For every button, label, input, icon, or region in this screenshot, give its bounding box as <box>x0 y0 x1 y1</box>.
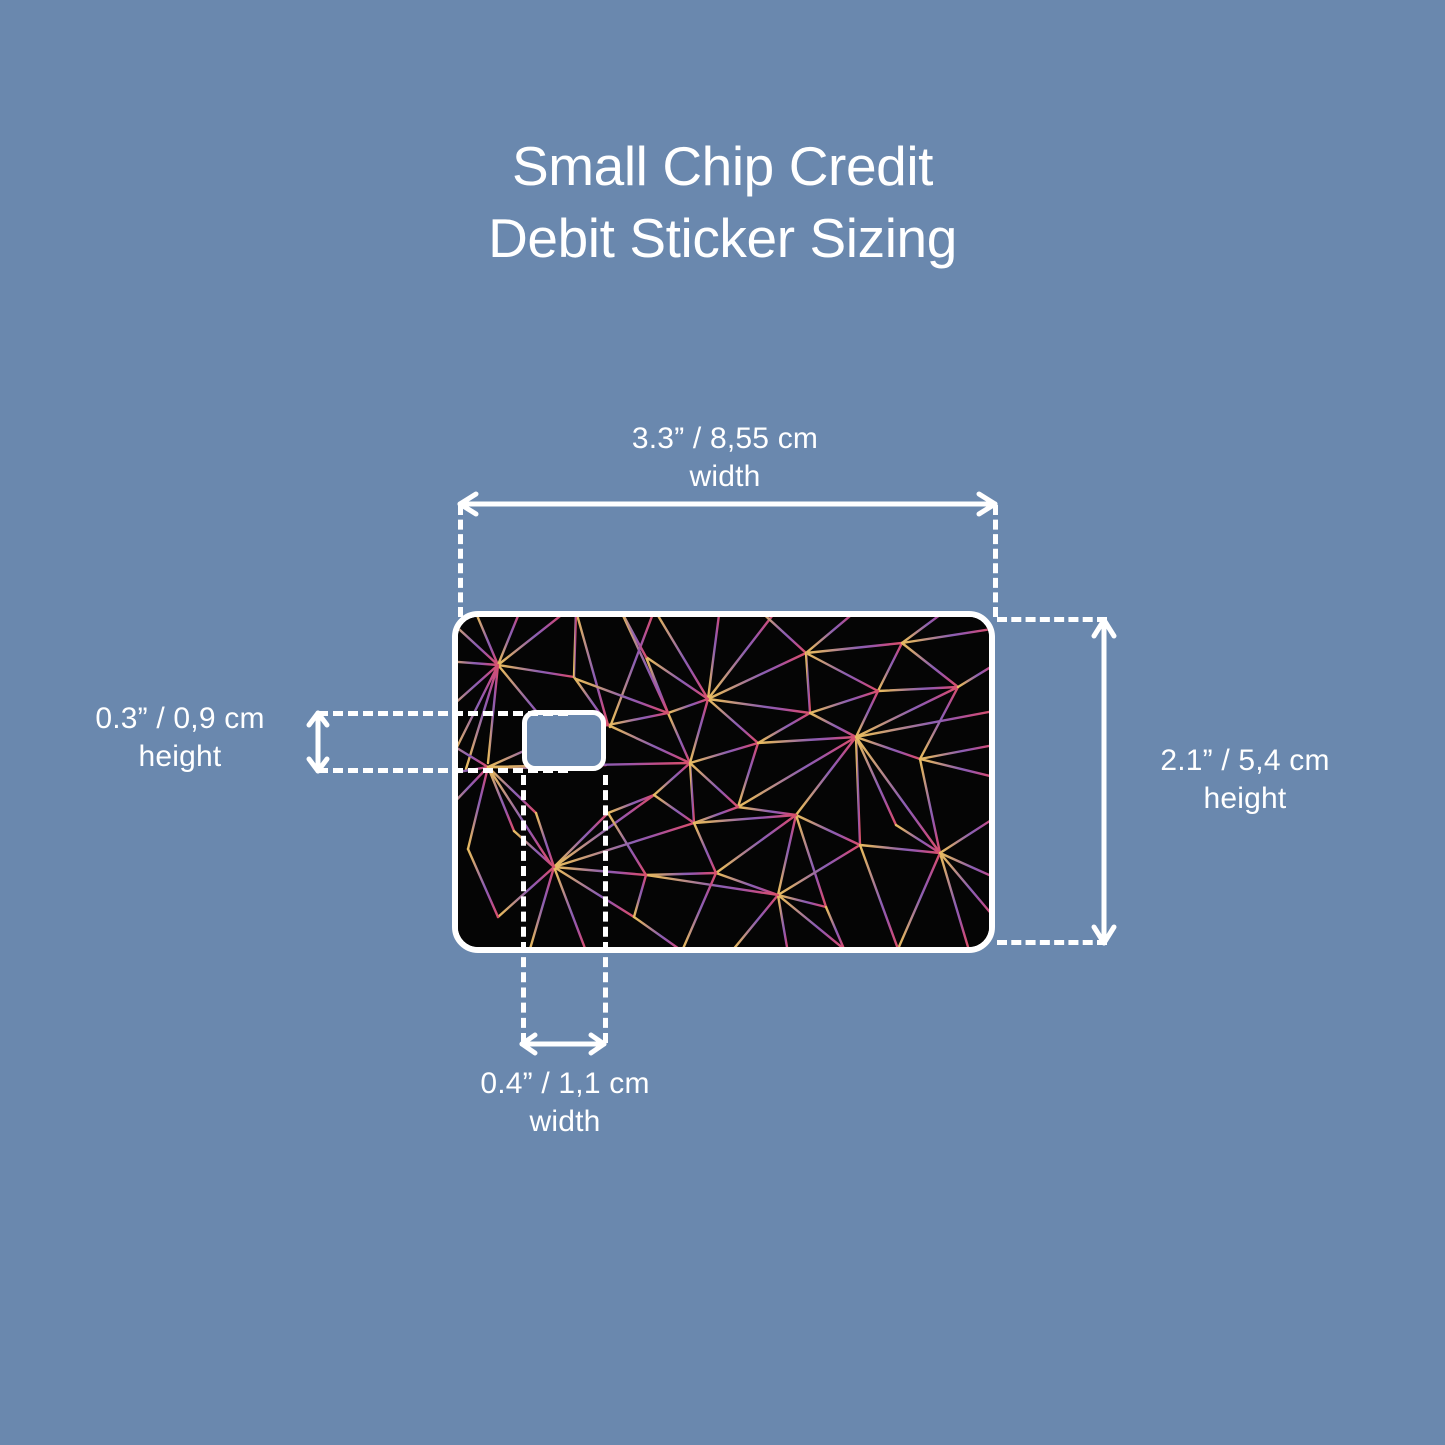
chip-height-arrow <box>306 705 330 779</box>
chip-width-measure: 0.4” / 1,1 cm <box>480 1067 649 1100</box>
guide-line-card-height-bottom <box>997 940 1107 945</box>
sticker-sizing-diagram: Small Chip Credit Debit Sticker Sizing 3… <box>0 0 1445 1445</box>
card-width-measure: 3.3” / 8,55 cm <box>632 422 818 455</box>
card-width-label: 3.3” / 8,55 cm width <box>530 420 920 496</box>
guide-line-chip-width-left <box>521 775 526 1043</box>
credit-card-sticker <box>452 611 995 953</box>
page-title-line-2: Debit Sticker Sizing <box>0 202 1445 274</box>
chip-cutout <box>522 710 606 771</box>
card-height-label: 2.1” / 5,4 cm height <box>1115 742 1375 818</box>
guide-line-chip-height-top <box>318 711 568 716</box>
card-artwork <box>458 617 989 947</box>
page-title-line-1: Small Chip Credit <box>0 130 1445 202</box>
chip-height-unit: height <box>55 738 305 776</box>
card-height-measure: 2.1” / 5,4 cm <box>1160 744 1329 777</box>
guide-line-card-width-right <box>993 505 998 617</box>
chip-height-measure: 0.3” / 0,9 cm <box>95 702 264 735</box>
card-height-unit: height <box>1115 780 1375 818</box>
chip-width-arrow <box>514 1032 612 1056</box>
page-title: Small Chip Credit Debit Sticker Sizing <box>0 130 1445 274</box>
guide-line-chip-height-bottom <box>318 768 568 773</box>
card-width-arrow <box>452 492 1003 516</box>
card-width-unit: width <box>530 458 920 496</box>
guide-line-card-width-left <box>458 505 463 617</box>
guide-line-chip-width-right <box>603 775 608 1043</box>
card-height-arrow <box>1092 612 1116 951</box>
chip-width-unit: width <box>440 1103 690 1141</box>
chip-width-label: 0.4” / 1,1 cm width <box>440 1065 690 1141</box>
chip-height-label: 0.3” / 0,9 cm height <box>55 700 305 776</box>
guide-line-card-height-top <box>997 617 1107 622</box>
